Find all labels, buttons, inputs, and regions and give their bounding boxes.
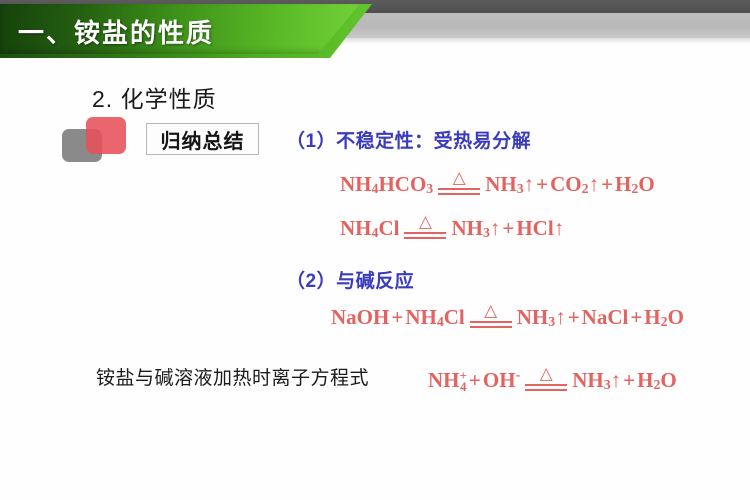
equation-2: NH4Cl △ NH3↑+HCl↑: [340, 216, 564, 241]
equals-bar-icon: [438, 187, 480, 195]
equals-bar-icon: [525, 383, 567, 391]
eq4-product-h: H: [637, 368, 653, 393]
eq1-reactant-nh: NH: [340, 172, 372, 197]
eq1-reaction-condition: △: [438, 170, 480, 195]
eq4-plus-0: +: [467, 368, 483, 393]
eq3-plus-0: +: [389, 305, 405, 330]
eq1-product-o: O: [638, 172, 654, 197]
eq2-reactant-nh: NH: [340, 216, 372, 241]
equation-3: NaOH+NH4Cl △ NH3↑+NaCl+H2O: [331, 305, 684, 330]
eq3-plus-1: +: [566, 305, 582, 330]
eq3-product-h: H: [644, 305, 660, 330]
eq4-plus-1: +: [621, 368, 637, 393]
decorative-red-square: [86, 117, 126, 154]
section-heading: 2. 化学性质: [92, 80, 217, 114]
eq2-plus-1: +: [500, 216, 516, 241]
eq2-gas-arrow-icon-2: ↑: [554, 216, 565, 241]
eq3-product-nacl: NaCl: [582, 305, 629, 330]
summary-tag-label: 归纳总结: [161, 125, 245, 154]
point-2-text: （2）与碱反应: [286, 266, 414, 293]
eq3-reactant-nh: NH: [405, 305, 437, 330]
eq4-reactant-nh: NH: [428, 368, 460, 393]
eq3-gas-arrow-icon: ↑: [555, 305, 566, 330]
eq1-reactant-hco: HCO: [378, 172, 426, 197]
eq4-product-nh: NH: [572, 368, 604, 393]
eq4-gas-arrow-icon: ↑: [611, 368, 622, 393]
eq3-product-o: O: [668, 305, 684, 330]
eq2-gas-arrow-icon: ↑: [490, 216, 501, 241]
eq1-plus-2: +: [599, 172, 615, 197]
eq3-product-nh: NH: [517, 305, 549, 330]
eq4-ammonium-charge-stack: +4: [460, 370, 467, 392]
eq2-reactant-cl: Cl: [378, 216, 399, 241]
eq1-product-nh: NH: [485, 172, 517, 197]
page-title: 一、铵盐的性质: [18, 13, 214, 50]
eq4-reaction-condition: △: [525, 366, 567, 391]
eq1-gas-arrow-icon: ↑: [524, 172, 535, 197]
eq4-reactant-nh-sub: 4: [460, 381, 467, 392]
eq3-reaction-condition: △: [470, 303, 512, 328]
eq4-product-o: O: [660, 368, 676, 393]
eq1-product-co: CO: [550, 172, 582, 197]
eq1-plus-1: +: [534, 172, 550, 197]
eq2-product-hcl: HCl: [516, 216, 553, 241]
title-banner: 一、铵盐的性质: [0, 4, 372, 58]
eq1-product-h: H: [615, 172, 631, 197]
delta-icon: △: [453, 170, 466, 187]
equation-4: NH+4+OH- △ NH3↑+H2O: [428, 368, 677, 393]
eq2-product-nh: NH: [451, 216, 483, 241]
eq3-reactant-naoh: NaOH: [331, 305, 389, 330]
eq3-reactant-cl: Cl: [444, 305, 465, 330]
eq2-reaction-condition: △: [404, 214, 446, 239]
delta-icon: △: [540, 366, 553, 383]
eq3-plus-2: +: [628, 305, 644, 330]
delta-icon: △: [484, 303, 497, 320]
equals-bar-icon: [404, 231, 446, 239]
point-1-text: （1）不稳定性：受热易分解: [286, 126, 531, 153]
equation-1: NH4HCO3 △ NH3↑+CO2↑+H2O: [340, 172, 655, 197]
equals-bar-icon: [470, 320, 512, 328]
slide-canvas: 一、铵盐的性质 2. 化学性质 归纳总结 （1）不稳定性：受热易分解 NH4HC…: [0, 0, 750, 500]
ionic-equation-caption: 铵盐与碱溶液加热时离子方程式: [96, 363, 369, 390]
eq4-reactant-oh: OH: [483, 368, 516, 393]
summary-tag-box: 归纳总结: [146, 123, 259, 155]
delta-icon: △: [419, 214, 432, 231]
eq1-gas-arrow-icon-2: ↑: [589, 172, 600, 197]
